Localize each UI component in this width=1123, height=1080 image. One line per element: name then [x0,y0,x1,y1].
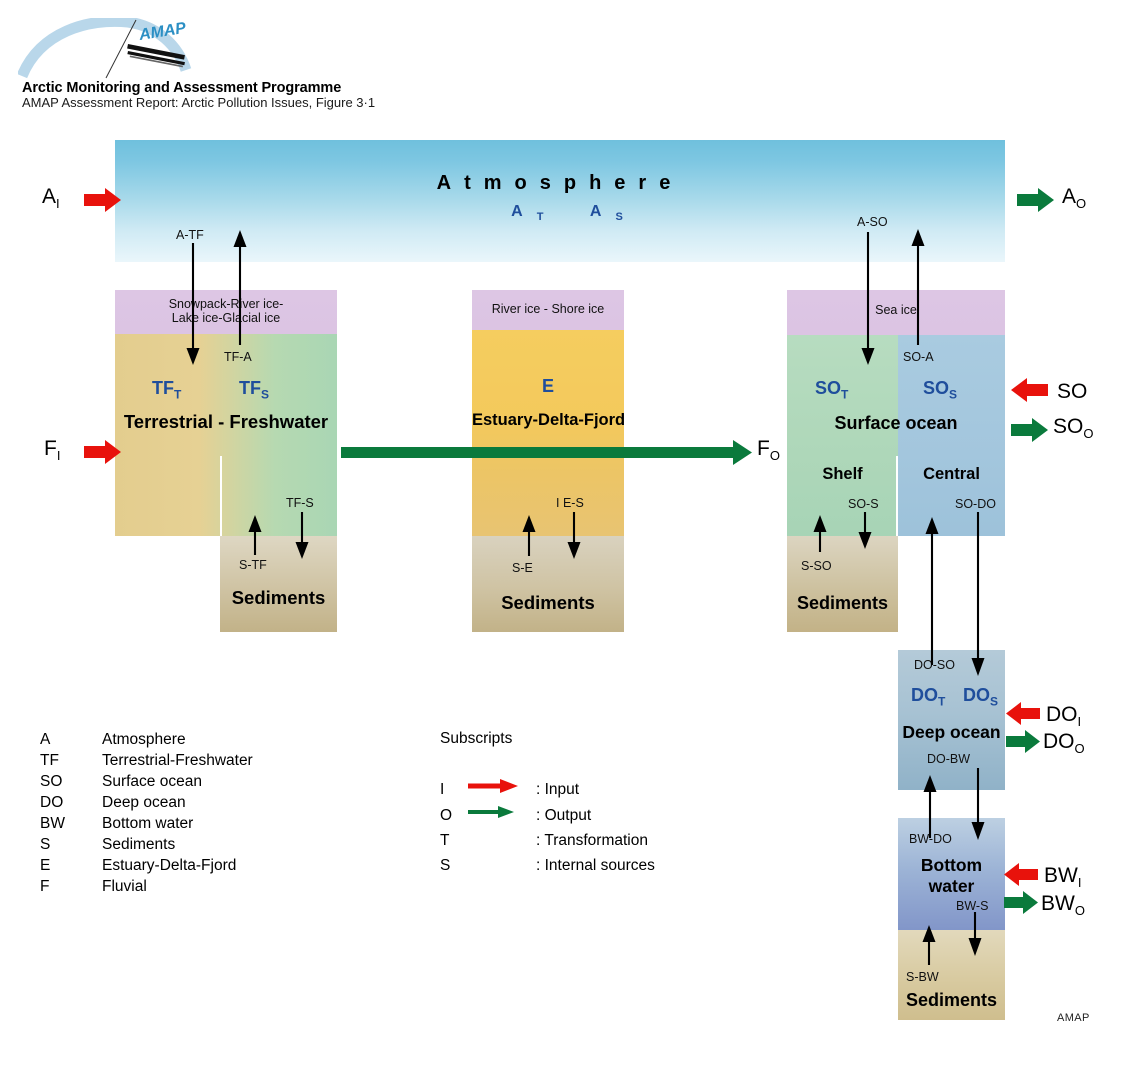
subscript-key: I [440,778,466,804]
flux-label-s-e: S-E [512,561,533,575]
page-subtitle: AMAP Assessment Report: Arctic Pollution… [22,95,375,110]
terrestrial-sediments-box [220,536,337,632]
arrow-output-surface-ocean [1011,418,1048,442]
list-item: E Estuary-Delta-Fjord [40,856,253,877]
legend-key: S [40,835,102,856]
list-item: SO Surface ocean [40,772,253,793]
bottom-water-name-label: Bottom water [898,855,1005,897]
flux-label-bw-do: BW-DO [909,832,952,846]
flux-label-do-bw: DO-BW [927,752,970,766]
estuary-box [472,330,624,536]
list-item: S : Internal sources [440,855,655,880]
amap-logo: AMAP [18,18,198,80]
legend-value: Surface ocean [102,772,253,793]
abbreviation-legend: A Atmosphere TF Terrestrial-Freshwater S… [40,730,253,898]
legend-key: E [40,856,102,877]
legend-key: F [40,877,102,898]
legend-value: Fluvial [102,877,253,898]
terrestrial-internal-symbol: TFS [239,378,269,402]
legend-value: Atmosphere [102,730,253,751]
amap-watermark: AMAP [1057,1012,1090,1024]
deep-ocean-name-label: Deep ocean [898,722,1005,743]
list-item: F Fluvial [40,877,253,898]
estuary-sediments-label: Sediments [472,592,624,614]
no-arrow-placeholder [466,855,536,880]
estuary-name-label: Estuary-Delta-Fjord [472,411,624,430]
deep-ocean-output-label: DOO [1043,730,1085,756]
atmosphere-label: Atmosphere [115,172,1005,195]
legend-value: Deep ocean [102,793,253,814]
atmosphere-output-label: AO [1062,185,1086,211]
arrow-input-bottom-water [1004,863,1038,886]
surface-ocean-name-label: Surface ocean [787,413,1005,434]
arrow-do-so [926,517,939,665]
legend-value: Estuary-Delta-Fjord [102,856,253,877]
arrow-output-deep-ocean [1006,730,1040,753]
list-item: T : Transformation [440,830,655,855]
list-item: BW Bottom water [40,814,253,835]
deep-ocean-input-label: DOI [1046,703,1081,729]
flux-label-bw-s: BW-S [956,899,988,913]
red-arrow-icon [466,778,536,804]
list-item: TF Terrestrial-Freshwater [40,751,253,772]
flux-label-s-bw: S-BW [906,970,939,984]
legend-key: TF [40,751,102,772]
list-item: I : Input [440,778,655,804]
list-item: S Sediments [40,835,253,856]
sea-ice-label: Sea ice [787,303,1005,317]
surface-ocean-input-label: SO [1057,380,1087,406]
flux-label-a-so: A-SO [857,215,888,229]
flux-label-e-s: I E-S [556,496,584,510]
subscript-legend: Subscripts I : Input O [440,730,655,880]
legend-key: BW [40,814,102,835]
estuary-sediments-box [472,536,624,632]
figure-canvas: AMAP Arctic Monitoring and Assessment Pr… [0,0,1123,1080]
legend-value: Bottom water [102,814,253,835]
atmosphere-transformation-symbol: AT [497,203,543,220]
terrestrial-divider [220,456,222,536]
arrow-output-bottom-water [1004,891,1038,914]
no-arrow-placeholder [466,830,536,855]
flux-label-s-so: S-SO [801,559,832,573]
subscript-value: : Transformation [536,830,655,855]
flux-label-do-so: DO-SO [914,658,955,672]
flux-label-so-s: SO-S [848,497,879,511]
surface-ocean-output-label: SOO [1053,415,1093,441]
flux-label-s-tf: S-TF [239,558,267,572]
legend-value: Terrestrial-Freshwater [102,751,253,772]
legend-key: SO [40,772,102,793]
list-item: O : Output [440,804,655,830]
central-label: Central [898,465,1005,484]
list-item: DO Deep ocean [40,793,253,814]
atmosphere-box [115,140,1005,262]
deep-ocean-transformation-symbol: DOT [911,685,945,709]
fluvial-output-label: FO [757,437,780,463]
flux-label-a-tf: A-TF [176,228,204,242]
legend-value: Sediments [102,835,253,856]
arrow-input-deep-ocean [1006,702,1040,725]
terrestrial-name-label: Terrestrial - Freshwater [115,411,337,433]
subscript-key: O [440,804,466,830]
estuary-symbol: E [472,376,624,397]
bottom-water-output-label: BWO [1041,892,1085,918]
flux-label-tf-a: TF-A [224,350,252,364]
subscripts-title: Subscripts [440,730,655,748]
estuary-ice-label: River ice - Shore ice [472,302,624,316]
bottom-water-input-label: BWI [1044,864,1081,890]
list-item: A Atmosphere [40,730,253,751]
bottom-water-sediments-label: Sediments [898,990,1005,1011]
surface-ocean-sediments-label: Sediments [787,593,898,614]
terrestrial-transformation-symbol: TFT [152,378,181,402]
surface-ocean-shelf-box [787,335,898,536]
deep-ocean-internal-symbol: DOS [963,685,998,709]
subscript-key: S [440,855,466,880]
legend-key: DO [40,793,102,814]
surface-ocean-transformation-symbol: SOT [815,378,848,402]
page-title: Arctic Monitoring and Assessment Program… [22,80,341,96]
flux-label-so-do: SO-DO [955,497,996,511]
subscript-value: : Internal sources [536,855,655,880]
flux-label-tf-s: TF-S [286,496,314,510]
arrow-output-atmosphere [1017,188,1054,212]
subscript-value: : Input [536,778,655,804]
legend-key: A [40,730,102,751]
atmosphere-input-label: AI [42,185,60,211]
subscript-key: T [440,830,466,855]
atmosphere-internal-symbol: AS [576,203,623,220]
subscript-value: : Output [536,804,655,830]
surface-ocean-sediments-box [787,536,898,632]
terrestrial-ice-label: Snowpack-River ice- Lake ice-Glacial ice [115,297,337,325]
green-arrow-icon [466,804,536,830]
terrestrial-sediments-label: Sediments [220,587,337,609]
shelf-label: Shelf [787,465,898,484]
fluvial-input-label: FI [44,437,60,463]
flux-label-so-a: SO-A [903,350,934,364]
surface-ocean-internal-symbol: SOS [923,378,957,402]
arrow-input-surface-ocean [1011,378,1048,402]
